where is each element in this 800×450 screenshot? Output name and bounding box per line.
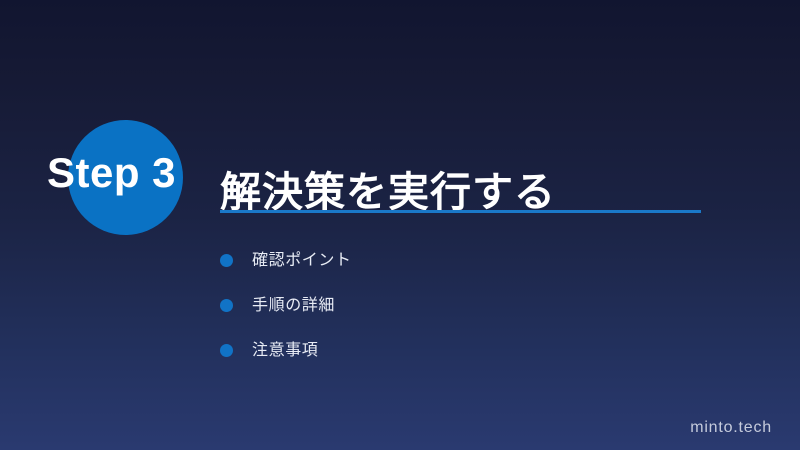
bullet-dot-icon <box>220 299 233 312</box>
bullet-label: 確認ポイント <box>252 253 352 269</box>
list-item: 確認ポイント <box>220 238 352 283</box>
slide-headline: 解決策を実行する <box>220 171 556 214</box>
bullet-list: 確認ポイント 手順の詳細 注意事項 <box>220 238 352 373</box>
step-label: Step 3 <box>47 152 212 194</box>
list-item: 手順の詳細 <box>220 283 352 328</box>
bullet-dot-icon <box>220 344 233 357</box>
brand-footer: minto.tech <box>690 420 772 436</box>
list-item: 注意事項 <box>220 328 352 373</box>
headline-divider <box>220 210 701 213</box>
bullet-label: 手順の詳細 <box>252 298 335 314</box>
bullet-label: 注意事項 <box>252 343 318 359</box>
bullet-dot-icon <box>220 254 233 267</box>
slide-canvas: Step 3 解決策を実行する 確認ポイント 手順の詳細 注意事項 minto.… <box>0 0 800 450</box>
